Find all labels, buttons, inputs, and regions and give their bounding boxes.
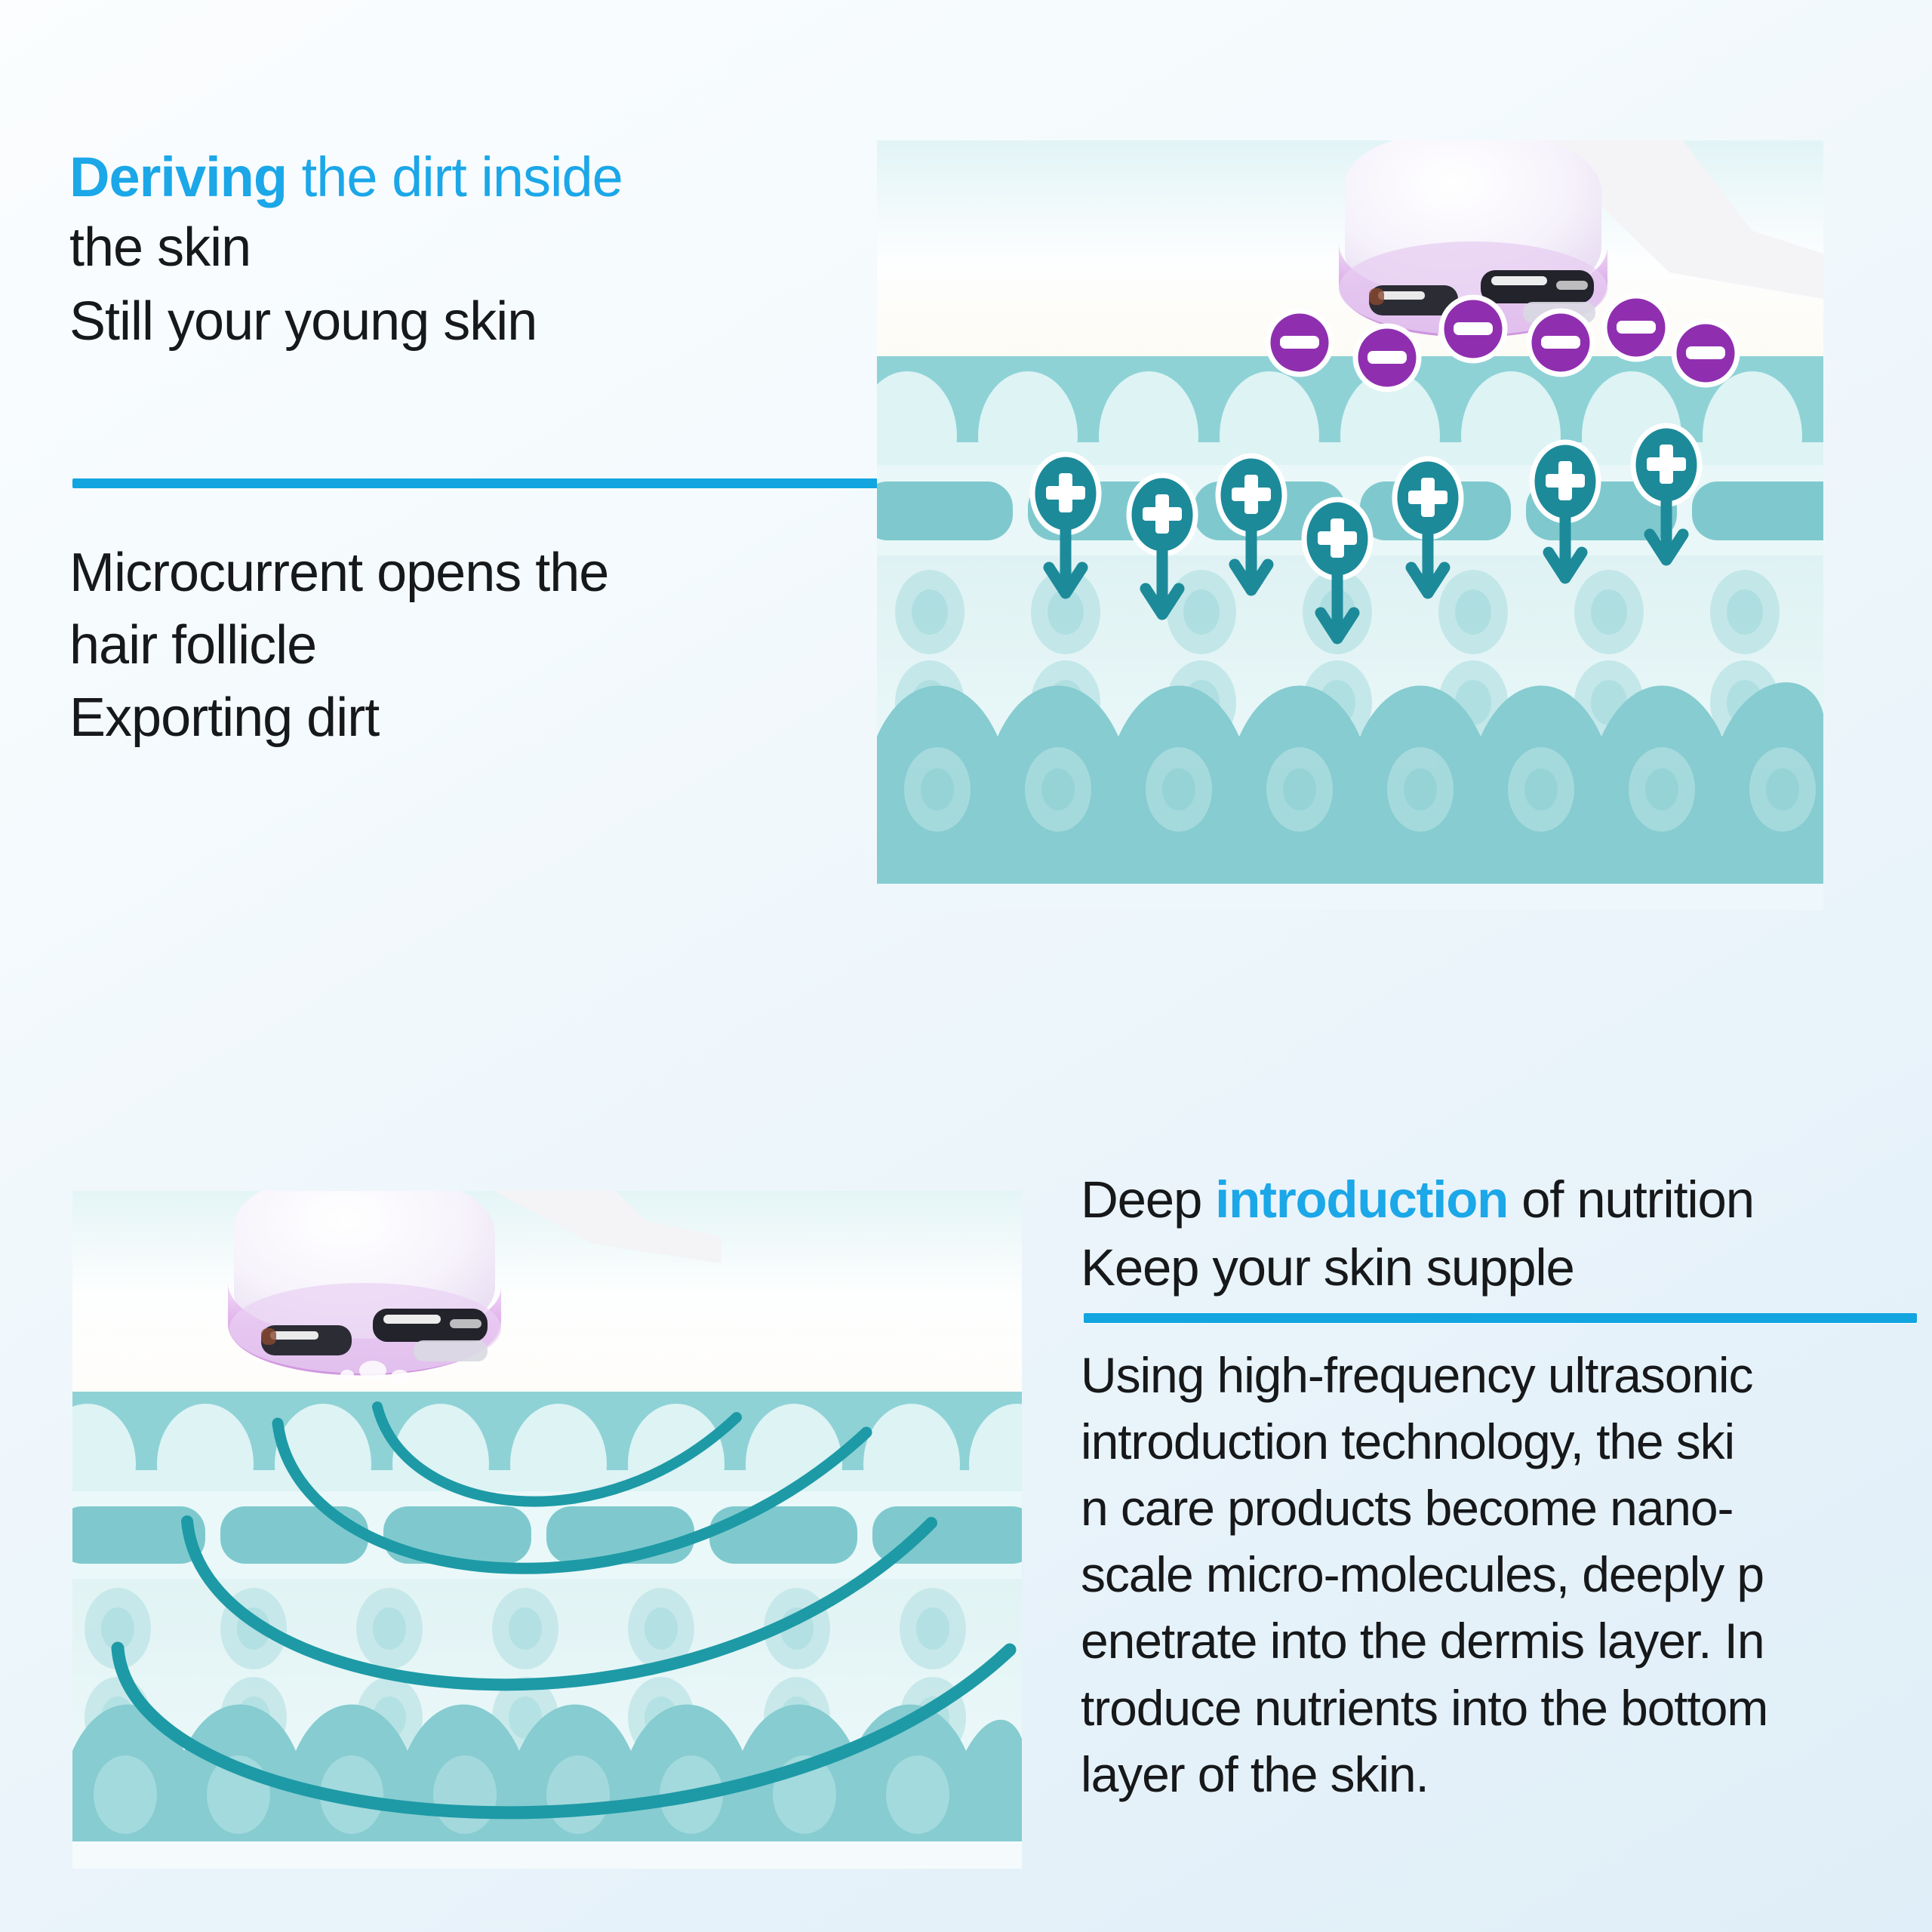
- ultrasonic-illustration-panel: [72, 1191, 1022, 1869]
- negative-ion: [1268, 311, 1331, 374]
- bottom-right-heading-2: Keep your skin supple: [1081, 1234, 1918, 1302]
- bottom-right-text-block: Deep introduction of nutrition Keep your…: [1081, 1166, 1918, 1301]
- top-left-subline-2: Still your young skin: [69, 285, 869, 359]
- infographic-page: Deriving the dirt inside the skin Still …: [0, 0, 1932, 1932]
- top-left-heading-lead: Deriving: [69, 146, 287, 208]
- negative-ion: [1674, 321, 1737, 385]
- top-left-body-block: Microcurrent opens the hair follicle Exp…: [69, 537, 884, 754]
- bottom-right-heading-accent: introduction: [1215, 1171, 1508, 1229]
- negative-ion: [1441, 297, 1505, 361]
- top-left-subline-1: the skin: [69, 211, 869, 285]
- follicle-wave-band: [72, 1705, 1022, 1869]
- top-left-body-line-1: Microcurrent opens the: [69, 537, 884, 610]
- top-left-divider: [72, 478, 881, 488]
- bottom-right-body-line-3: n care products become nano-: [1081, 1475, 1926, 1541]
- bottom-right-heading-post: of nutrition: [1508, 1171, 1754, 1229]
- bottom-right-heading-pre: Deep: [1081, 1171, 1215, 1229]
- negative-ion: [1355, 326, 1419, 389]
- ultrasonic-diagram-svg: [72, 1191, 1022, 1869]
- bottom-right-body-line-1: Using high-frequency ultrasonic: [1081, 1342, 1926, 1408]
- bottom-right-body-line-2: introduction technology, the ski: [1081, 1408, 1926, 1475]
- top-left-heading-rest: the dirt inside: [287, 146, 623, 208]
- bottom-right-divider: [1084, 1313, 1917, 1323]
- bottom-right-body-line-5: enetrate into the dermis layer. In: [1081, 1607, 1926, 1674]
- top-left-body-line-2: hair follicle: [69, 610, 884, 682]
- bottom-right-body-line-7: layer of the skin.: [1081, 1741, 1926, 1807]
- negative-ion: [1529, 311, 1592, 374]
- top-left-heading: Deriving the dirt inside: [69, 143, 869, 211]
- negative-ion: [1604, 296, 1668, 359]
- bottom-right-body-line-4: scale micro-molecules, deeply p: [1081, 1541, 1926, 1607]
- top-left-text-block: Deriving the dirt inside the skin Still …: [69, 143, 869, 359]
- bottom-right-body-block: Using high-frequency ultrasonic introduc…: [1081, 1342, 1926, 1807]
- bottom-right-heading-1: Deep introduction of nutrition: [1081, 1166, 1918, 1234]
- bottom-right-body-line-6: troduce nutrients into the bottom: [1081, 1675, 1926, 1741]
- microcurrent-diagram-svg: [877, 140, 1823, 910]
- top-left-body-line-3: Exporting dirt: [69, 682, 884, 755]
- microcurrent-illustration-panel: [877, 140, 1823, 910]
